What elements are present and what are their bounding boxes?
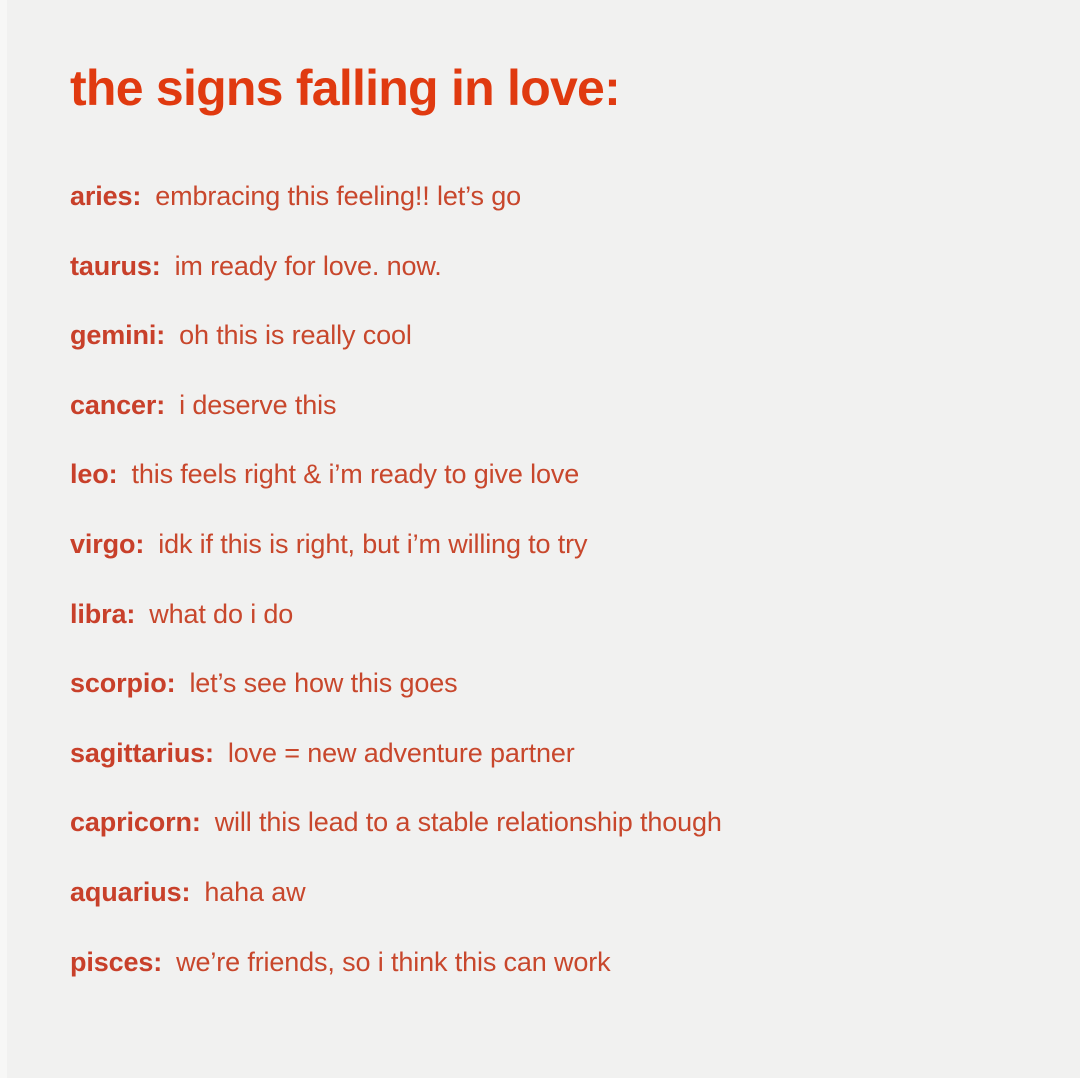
sign-label: leo:	[70, 459, 117, 489]
sign-text: haha aw	[204, 877, 305, 907]
poster-canvas: the signs falling in love: aries:embraci…	[0, 0, 1080, 1078]
sign-text: will this lead to a stable relationship …	[215, 807, 722, 837]
list-item: leo:this feels right & i’m ready to give…	[70, 454, 1030, 524]
sign-text: let’s see how this goes	[189, 668, 457, 698]
list-item: gemini:oh this is really cool	[70, 315, 1030, 385]
sign-label: capricorn:	[70, 807, 201, 837]
list-item: sagittarius:love = new adventure partner	[70, 733, 1030, 803]
sign-label: sagittarius:	[70, 738, 214, 768]
list-item: taurus:im ready for love. now.	[70, 246, 1030, 316]
sign-label: gemini:	[70, 320, 165, 350]
sign-text: this feels right & i’m ready to give lov…	[131, 459, 579, 489]
sign-text: idk if this is right, but i’m willing to…	[158, 529, 587, 559]
sign-label: cancer:	[70, 390, 165, 420]
sign-text: oh this is really cool	[179, 320, 412, 350]
signs-list: aries:embracing this feeling!! let’s go …	[70, 176, 1030, 1011]
sign-text: what do i do	[149, 599, 293, 629]
sign-label: pisces:	[70, 947, 162, 977]
sign-text: i deserve this	[179, 390, 336, 420]
list-item: aries:embracing this feeling!! let’s go	[70, 176, 1030, 246]
list-item: virgo:idk if this is right, but i’m will…	[70, 524, 1030, 594]
sign-label: aquarius:	[70, 877, 190, 907]
sign-label: scorpio:	[70, 668, 175, 698]
list-item: scorpio:let’s see how this goes	[70, 663, 1030, 733]
sign-text: im ready for love. now.	[175, 251, 442, 281]
list-item: cancer:i deserve this	[70, 385, 1030, 455]
sign-label: virgo:	[70, 529, 144, 559]
list-item: aquarius:haha aw	[70, 872, 1030, 942]
sign-label: libra:	[70, 599, 135, 629]
list-item: libra:what do i do	[70, 594, 1030, 664]
sign-label: aries:	[70, 181, 141, 211]
sign-text: embracing this feeling!! let’s go	[155, 181, 521, 211]
list-item: pisces:we’re friends, so i think this ca…	[70, 942, 1030, 1012]
sign-label: taurus:	[70, 251, 161, 281]
list-item: capricorn:will this lead to a stable rel…	[70, 802, 1030, 872]
sign-text: love = new adventure partner	[228, 738, 575, 768]
sign-text: we’re friends, so i think this can work	[176, 947, 610, 977]
page-title: the signs falling in love:	[70, 58, 620, 118]
